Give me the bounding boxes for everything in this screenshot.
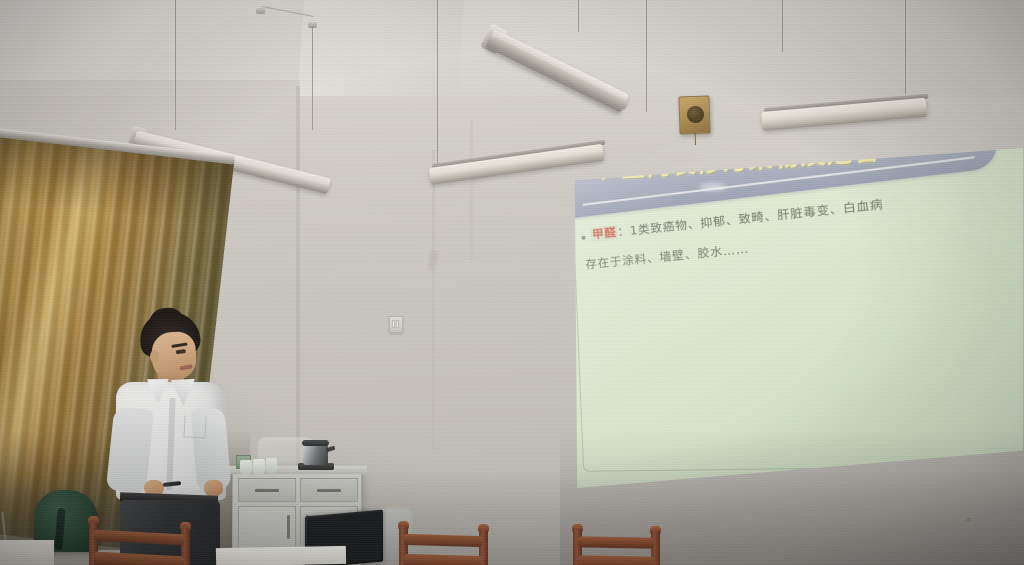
photo-scene: 一、室内装修污染物及危害 ▪ 甲醛：1类致癌物、抑郁、致畸、肝脏毒变、白血病 存… xyxy=(0,0,1024,565)
door-handle[interactable] xyxy=(287,515,290,539)
bullet-marker: ▪ xyxy=(580,229,586,242)
ceiling-mount xyxy=(256,8,265,14)
drawer-handle[interactable] xyxy=(317,489,341,492)
wall-speaker xyxy=(678,95,710,134)
lamp-suspension-wire xyxy=(578,0,579,32)
speaker-grille-icon xyxy=(687,106,705,124)
cup xyxy=(253,459,265,474)
table xyxy=(0,540,54,565)
table xyxy=(216,546,346,565)
presenter xyxy=(108,312,238,565)
ear xyxy=(150,350,159,363)
wall-seam xyxy=(470,120,473,260)
right-hand xyxy=(204,480,223,496)
lamp-suspension-wire xyxy=(646,0,647,112)
cup xyxy=(240,460,252,474)
cabinet-drawer[interactable] xyxy=(238,478,296,502)
cup xyxy=(266,458,277,473)
wall-seam xyxy=(432,150,435,450)
eye xyxy=(176,349,186,354)
lamp-suspension-wire xyxy=(312,26,313,130)
light-switch[interactable] xyxy=(389,316,403,333)
screen-hotspot xyxy=(700,183,726,191)
backpack-strap xyxy=(55,508,66,550)
kettle-lid xyxy=(302,440,329,446)
shirt-pocket xyxy=(183,415,206,438)
lamp-suspension-wire xyxy=(175,0,176,130)
drawer-handle[interactable] xyxy=(255,489,279,492)
bullet-keyword: 甲醛 xyxy=(591,225,619,242)
lamp-suspension-wire xyxy=(437,0,438,172)
lamp-suspension-wire xyxy=(782,0,783,52)
lamp-suspension-wire xyxy=(905,0,906,94)
cabinet-drawer[interactable] xyxy=(300,478,358,502)
electric-kettle xyxy=(303,443,328,465)
eyebrow xyxy=(171,342,187,347)
mouth xyxy=(179,364,192,370)
